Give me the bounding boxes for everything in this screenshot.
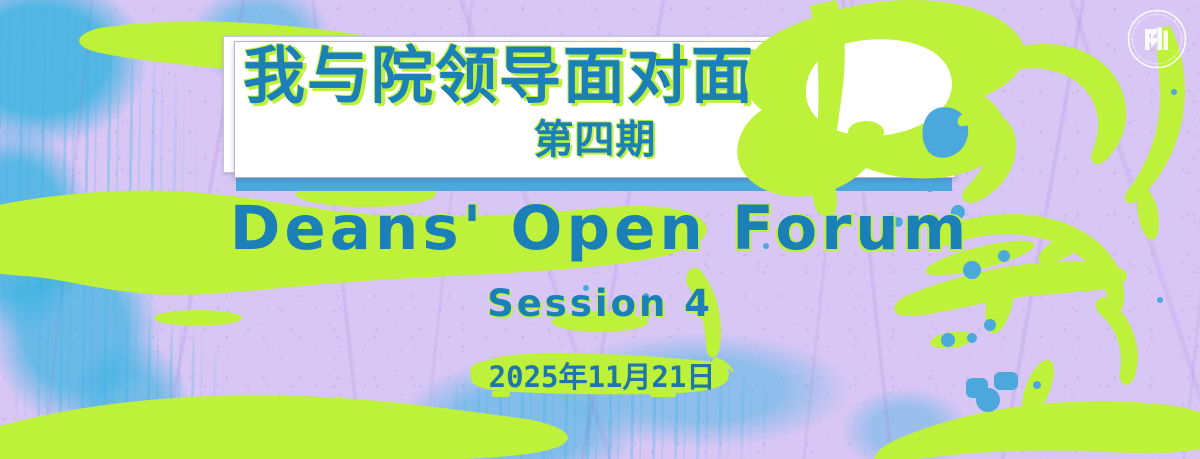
poster-session-english: Session 4 [0,283,1200,325]
date-banner: 2025年11月21日 [468,349,736,399]
date-text: 2025年11月21日 [468,350,736,400]
poster-canvas: 我与院领导面对面交流会 第四期 [0,0,1200,459]
university-emblem-icon [1126,8,1188,70]
poster-title-english: Deans' Open Forum [0,196,1200,262]
